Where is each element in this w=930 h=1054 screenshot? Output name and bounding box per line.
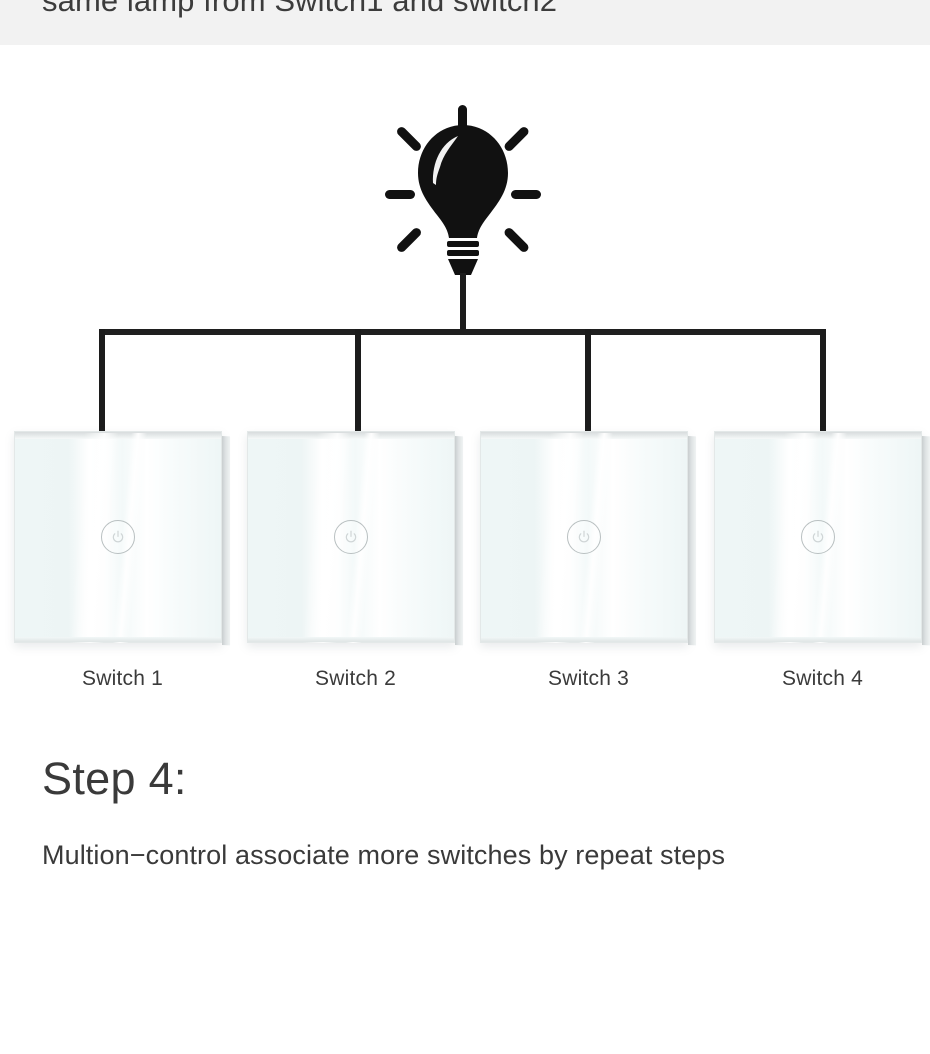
panel-bottom-bevel — [15, 637, 221, 642]
power-touch-button-icon[interactable] — [567, 520, 601, 554]
power-touch-button-icon[interactable] — [101, 520, 135, 554]
switch-panel-1[interactable] — [14, 431, 222, 643]
switch-label-3: Switch 3 — [472, 667, 705, 691]
drop-wire-3 — [585, 329, 591, 433]
switch-panel-4[interactable] — [714, 431, 922, 643]
drop-wire-1 — [99, 329, 105, 433]
panel-right-bevel-1 — [222, 436, 230, 645]
horizontal-bus-bar — [99, 329, 826, 335]
panel-right-bevel-4 — [922, 436, 930, 645]
switch-cell-3: Switch 3 — [472, 431, 705, 711]
switch-panel-3[interactable] — [480, 431, 688, 643]
lamp-stem-wire — [460, 273, 466, 335]
drop-wire-2 — [355, 329, 361, 433]
step-title: Step 4: — [42, 752, 890, 806]
panel-right-bevel-3 — [688, 436, 696, 645]
panel-bottom-bevel — [248, 637, 454, 642]
wiring-diagram: Switch 1 Switch 2 — [0, 45, 930, 710]
switch-label-4: Switch 4 — [706, 667, 930, 691]
switch-cell-4: Switch 4 — [706, 431, 930, 711]
power-touch-button-icon[interactable] — [334, 520, 368, 554]
switch-cell-2: Switch 2 — [239, 431, 472, 711]
clipped-banner: same lamp from Switch1 and switch2 — [0, 0, 930, 45]
step-description: Multion−control associate more switches … — [42, 826, 802, 884]
panel-bottom-bevel — [715, 637, 921, 642]
switch-label-1: Switch 1 — [6, 667, 239, 691]
switch-panel-2[interactable] — [247, 431, 455, 643]
panel-right-bevel-2 — [455, 436, 463, 645]
step-text-block: Step 4: Multion−control associate more s… — [42, 752, 890, 884]
switch-row: Switch 1 Switch 2 — [0, 431, 930, 711]
panel-bottom-bevel — [481, 637, 687, 642]
drop-wire-4 — [820, 329, 826, 433]
switch-cell-1: Switch 1 — [6, 431, 239, 711]
switch-label-2: Switch 2 — [239, 667, 472, 691]
clipped-banner-text: same lamp from Switch1 and switch2 — [42, 0, 557, 24]
light-bulb-icon — [385, 105, 541, 275]
power-touch-button-icon[interactable] — [801, 520, 835, 554]
